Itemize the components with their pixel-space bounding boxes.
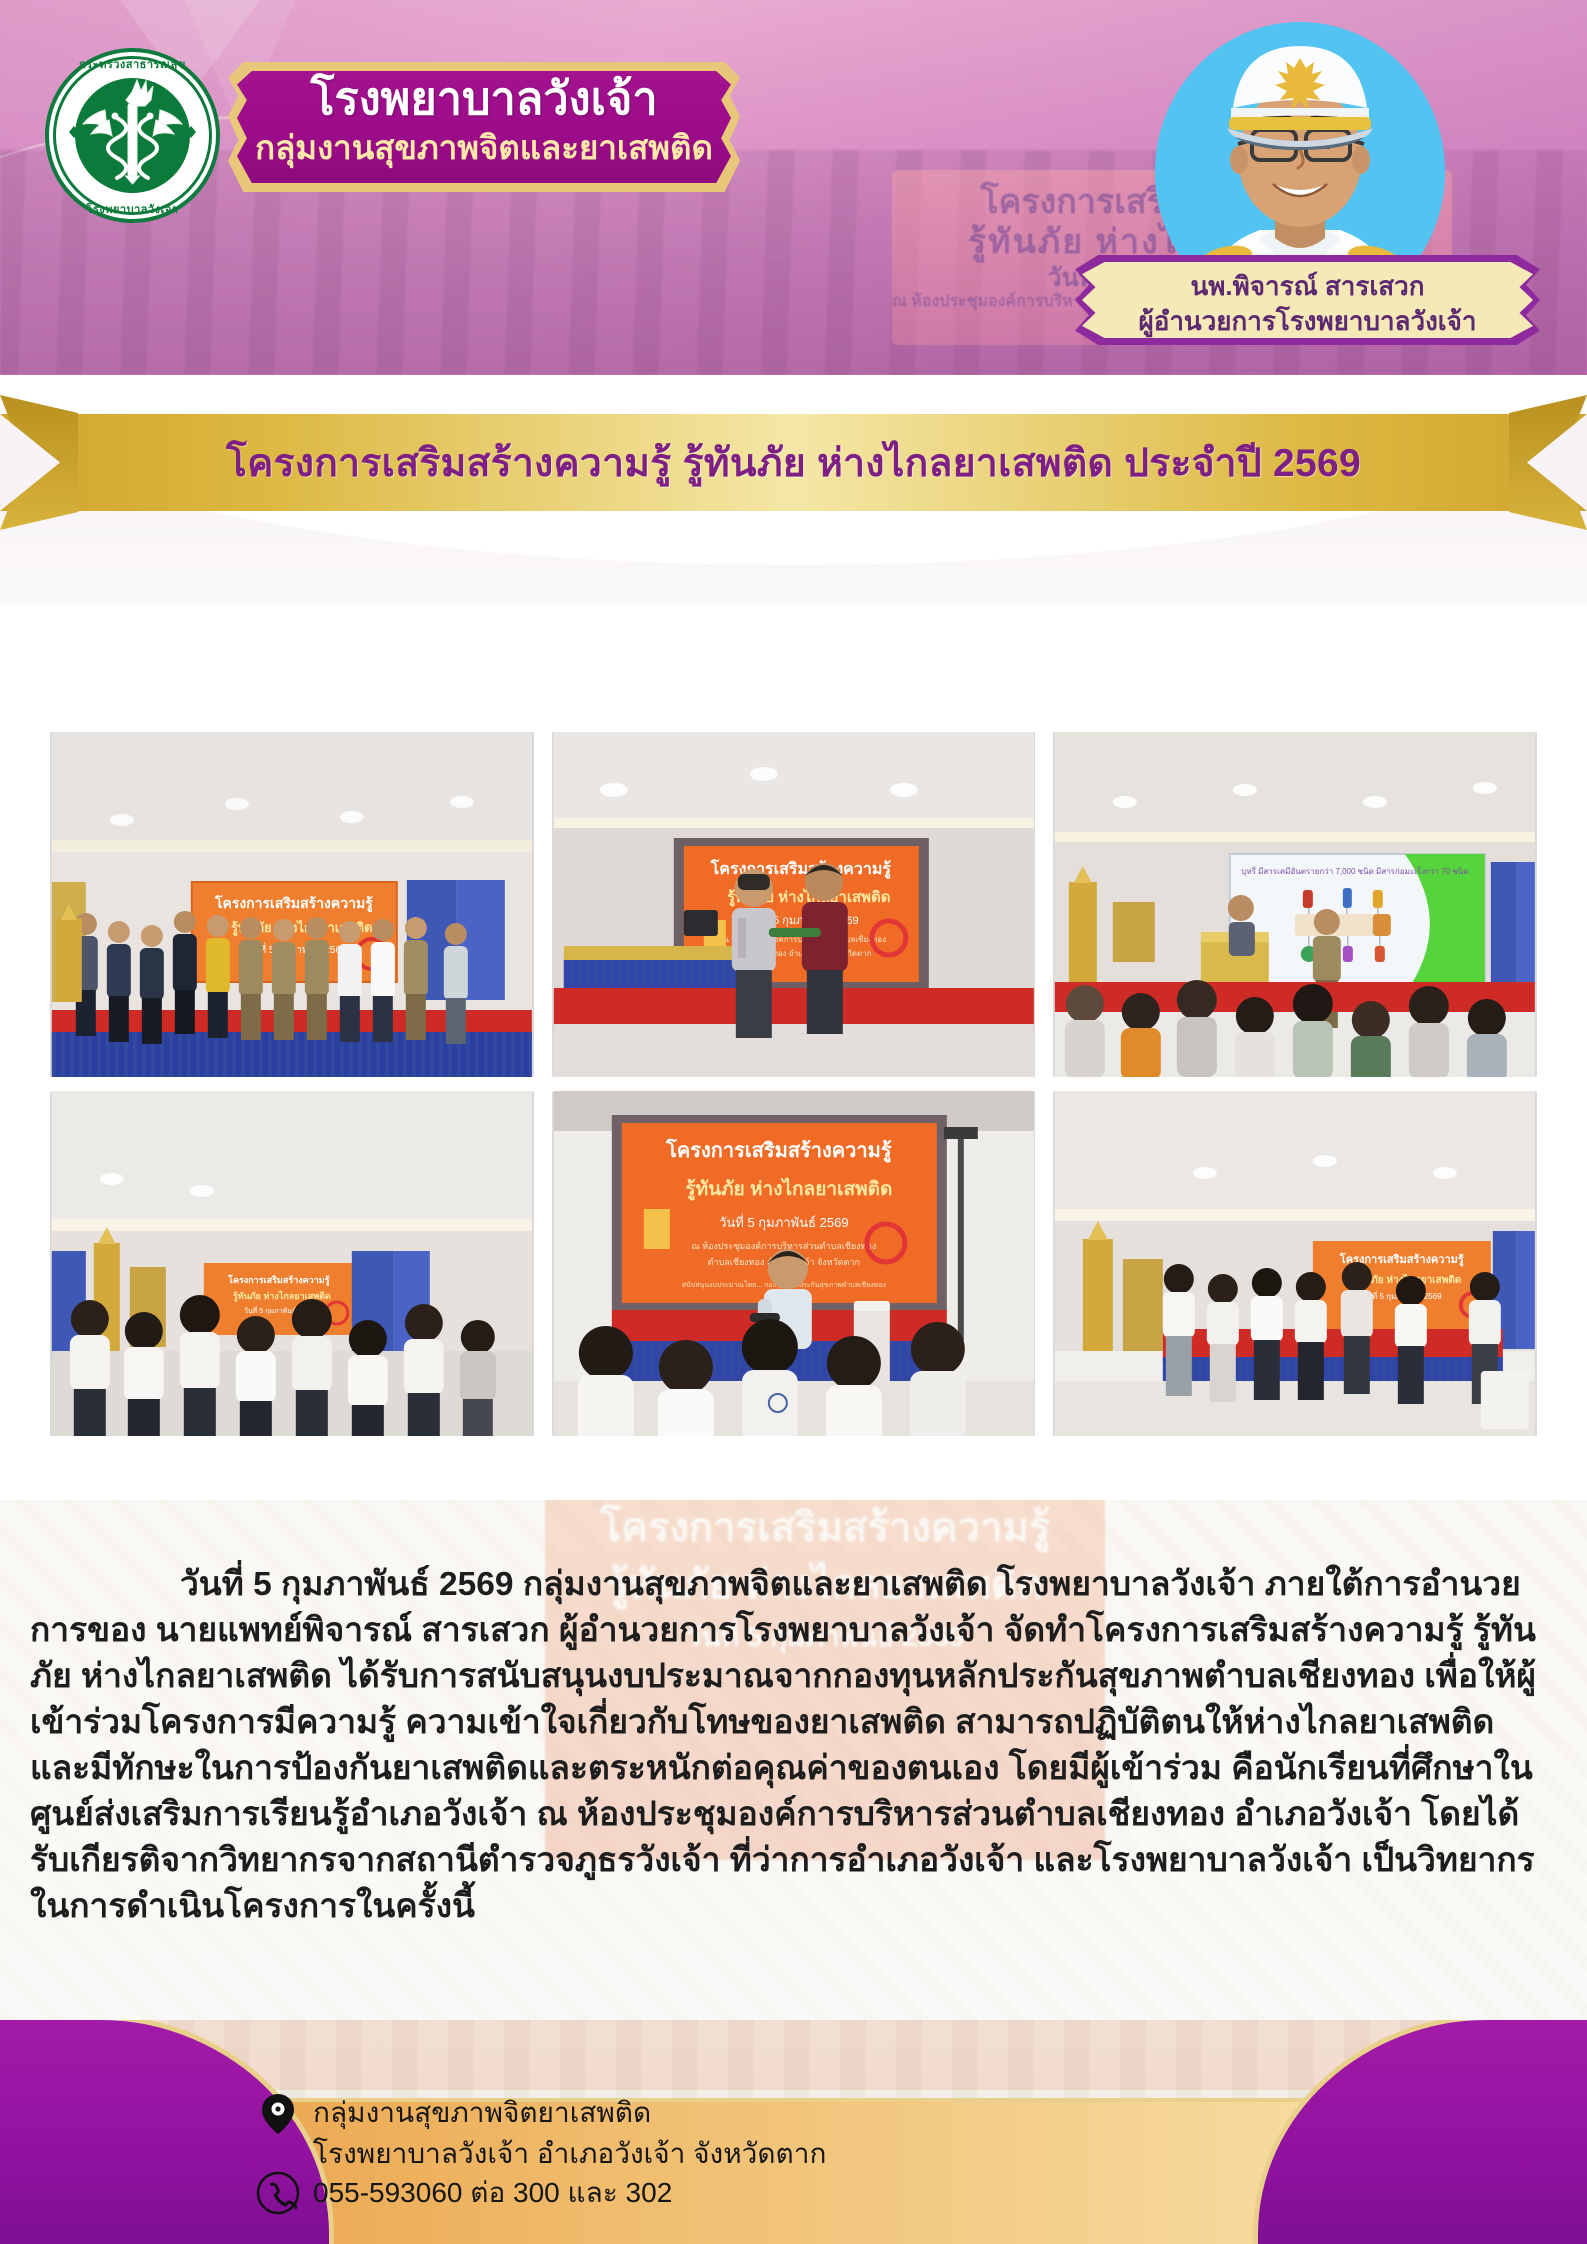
photo-gallery: โครงการเสริมสร้างความรู้ รู้ทันภัย ห่างไ… [0,605,1587,1500]
poster-root: โครงการเสริมสร้างความรู้ รู้ทันภัย ห่างไ… [0,0,1587,2244]
photo-5-illustration: โครงการเสริมสร้างความรู้ รู้ทันภัย ห่างไ… [552,1091,1036,1436]
director-position: ผู้อำนวยการโรงพยาบาลวังเจ้า [1075,301,1540,342]
photo-6-illustration: โครงการเสริมสร้างความรู้ รู้ทันภัย ห่างไ… [1053,1091,1537,1436]
event-description-text: วันที่ 5 กุมภาพันธ์ 2569 กลุ่มงานสุขภาพจ… [30,1566,1536,1925]
body-ghost-line1: โครงการเสริมสร้างความรู้ [545,1500,1105,1559]
svg-text:วันที่ 5 กุมภาพันธ์ 2569: วันที่ 5 กุมภาพันธ์ 2569 [719,1214,848,1231]
poster-header: โครงการเสริมสร้างความรู้ รู้ทันภัย ห่างไ… [0,0,1587,375]
svg-text:โครงการเสริมสร้างความรู้: โครงการเสริมสร้างความรู้ [665,1138,892,1164]
map-pin-icon [255,2090,301,2136]
footer-org: กลุ่มงานสุขภาพจิตยาเสพติด [313,2092,826,2133]
photo-3-illustration: บุหรี่ มีสารเคมีอันตรายกว่า 7,000 ชนิด ม… [1053,732,1537,1077]
footer-phone-row: 055-593060 ต่อ 300 และ 302 [255,2170,1255,2216]
svg-text:บุหรี่ มีสารเคมีอันตรายกว่า 7,: บุหรี่ มีสารเคมีอันตรายกว่า 7,000 ชนิด ม… [1242,865,1469,876]
gallery-photo-6[interactable]: โครงการเสริมสร้างความรู้ รู้ทันภัย ห่างไ… [1053,1091,1537,1436]
gallery-photo-2[interactable]: โครงการเสริมสร้างความรู้ รู้ทันภัย ห่างไ… [552,732,1036,1077]
photo-1-illustration: โครงการเสริมสร้างความรู้ รู้ทันภัย ห่างไ… [50,732,534,1077]
footer-phone: 055-593060 ต่อ 300 และ 302 [313,2172,672,2213]
gallery-photo-5[interactable]: โครงการเสริมสร้างความรู้ รู้ทันภัย ห่างไ… [552,1091,1036,1436]
gallery-photo-3[interactable]: บุหรี่ มีสารเคมีอันตรายกว่า 7,000 ชนิด ม… [1053,732,1537,1077]
footer-contact-block: กลุ่มงานสุขภาพจิตยาเสพติด โรงพยาบาลวังเจ… [255,2090,1255,2216]
svg-text:โครงการเสริมสร้างความรู้: โครงการเสริมสร้างความรู้ [709,858,891,880]
footer-phone-lines: 055-593060 ต่อ 300 และ 302 [313,2170,672,2213]
director-nameplate: นพ.พิจารณ์ สารเสวก ผู้อำนวยการโรงพยาบาลว… [1075,255,1540,345]
photo-grid: โครงการเสริมสร้างความรู้ รู้ทันภัย ห่างไ… [50,732,1537,1436]
project-title-banner-area: โครงการเสริมสร้างความรู้ รู้ทันภัย ห่างไ… [0,375,1587,605]
phone-icon [255,2170,301,2216]
gallery-photo-4[interactable]: โครงการเสริมสร้างความรู้ รู้ทันภัย ห่างไ… [50,1091,534,1436]
project-title: โครงการเสริมสร้างความรู้ รู้ทันภัย ห่างไ… [0,414,1587,511]
moph-logo-top-text: กระทรวงสาธารณสุข [45,55,220,73]
svg-text:โครงการเสริมสร้างความรู้: โครงการเสริมสร้างความรู้ [227,1274,330,1286]
footer-address-row: กลุ่มงานสุขภาพจิตยาเสพติด โรงพยาบาลวังเจ… [255,2090,1255,2174]
moph-logo: กระทรวงสาธารณสุข โรงพยาบาลวังเจ้า [45,48,220,223]
photo-4-illustration: โครงการเสริมสร้างความรู้ รู้ทันภัย ห่างไ… [50,1091,534,1436]
moph-logo-bottom-text: โรงพยาบาลวังเจ้า [45,200,220,218]
hospital-title-plaque: โรงพยาบาลวังเจ้า กลุ่มงานสุขภาพจิตและยาเ… [228,62,740,192]
caduceus-icon [45,48,220,223]
photo-2-illustration: โครงการเสริมสร้างความรู้ รู้ทันภัย ห่างไ… [552,732,1036,1077]
department-name: กลุ่มงานสุขภาพจิตและยาเสพติด [228,128,740,168]
body-text-block: โครงการเสริมสร้างความรู้ รู้ทันภัย ห่างไ… [0,1500,1587,2020]
hospital-name: โรงพยาบาลวังเจ้า [228,74,740,124]
footer-address: โรงพยาบาลวังเจ้า อำเภอวังเจ้า จังหวัดตาก [313,2133,826,2174]
svg-text:รู้ทันภัย ห่างไกลยาเสพติด: รู้ทันภัย ห่างไกลยาเสพติด [685,1177,892,1201]
gallery-photo-1[interactable]: โครงการเสริมสร้างความรู้ รู้ทันภัย ห่างไ… [50,732,534,1077]
footer-address-lines: กลุ่มงานสุขภาพจิตยาเสพติด โรงพยาบาลวังเจ… [313,2090,826,2174]
event-description: วันที่ 5 กุมภาพันธ์ 2569 กลุ่มงานสุขภาพจ… [30,1562,1557,1930]
svg-text:โครงการเสริมสร้างความรู้: โครงการเสริมสร้างความรู้ [214,894,373,912]
